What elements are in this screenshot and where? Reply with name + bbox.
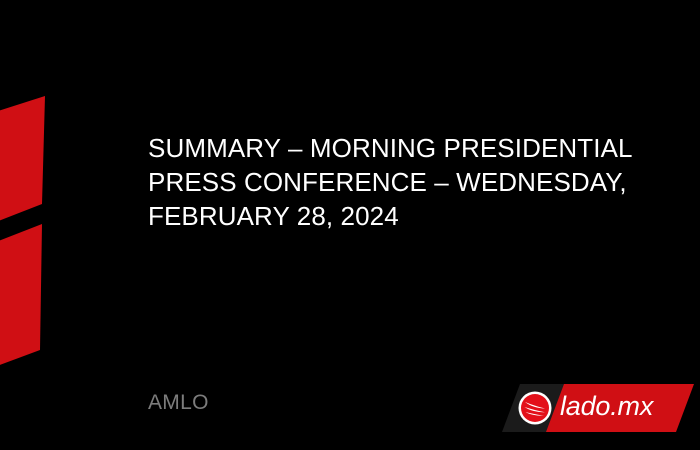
lado-bird-emblem (519, 392, 552, 425)
red-slash-graphic (0, 0, 120, 450)
red-slash-upper (0, 96, 45, 232)
page-title: SUMMARY – MORNING PRESIDENTIAL PRESS CON… (148, 131, 648, 233)
red-slash-lower (0, 224, 42, 376)
brand-logo[interactable]: lado.mx (498, 378, 698, 438)
category-tag[interactable]: AMLO (148, 390, 209, 416)
brand-wordmark: lado.mx (560, 389, 653, 423)
article-card: SUMMARY – MORNING PRESIDENTIAL PRESS CON… (0, 0, 700, 450)
